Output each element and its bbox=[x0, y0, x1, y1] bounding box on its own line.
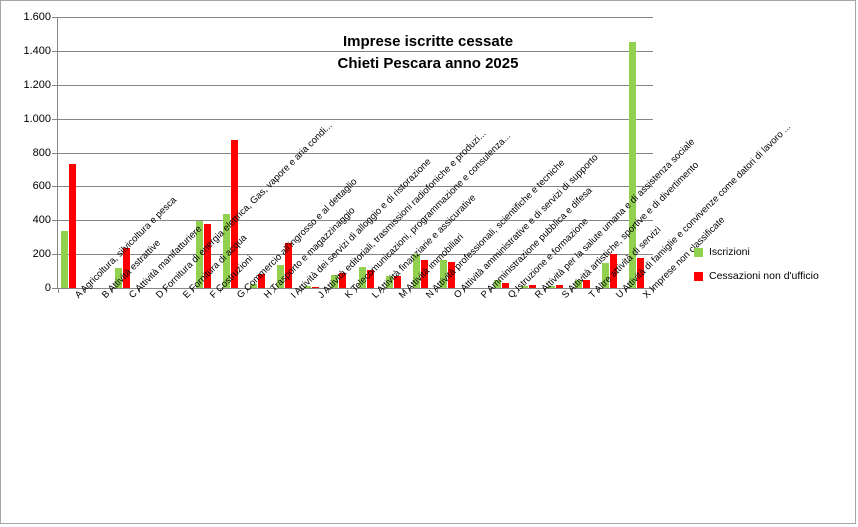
x-axis-tick-mark bbox=[139, 288, 140, 293]
x-axis-tick-mark bbox=[518, 288, 519, 293]
x-axis-tick-mark bbox=[545, 288, 546, 293]
y-axis-tick-label: 200 bbox=[5, 248, 51, 260]
x-axis-tick-mark bbox=[410, 288, 411, 293]
y-axis-tick-label: 400 bbox=[5, 214, 51, 226]
x-axis-tick-mark bbox=[220, 288, 221, 293]
x-axis-tick-mark bbox=[85, 288, 86, 293]
x-axis-tick-mark bbox=[356, 288, 357, 293]
legend-label: Cessazioni non d'ufficio bbox=[709, 270, 819, 282]
x-axis-tick-mark bbox=[274, 288, 275, 293]
chart-title-line2: Chieti Pescara anno 2025 bbox=[263, 53, 593, 75]
chart-title-line1: Imprese iscritte cessate bbox=[263, 31, 593, 53]
x-axis-tick-mark bbox=[166, 288, 167, 293]
x-axis-tick-mark bbox=[383, 288, 384, 293]
x-axis-tick-mark bbox=[572, 288, 573, 293]
x-axis-tick-mark bbox=[301, 288, 302, 293]
x-axis-tick-mark bbox=[112, 288, 113, 293]
legend-item[interactable]: Cessazioni non d'ufficio bbox=[694, 270, 854, 282]
y-axis-tick-label: 1.000 bbox=[5, 113, 51, 125]
y-axis-tick-label: 0 bbox=[5, 282, 51, 294]
x-axis-tick-mark bbox=[193, 288, 194, 293]
chart-legend: IscrizioniCessazioni non d'ufficio bbox=[694, 246, 854, 294]
y-axis-tick-label: 1.200 bbox=[5, 79, 51, 91]
y-axis-tick-label: 800 bbox=[5, 147, 51, 159]
x-axis-tick-mark bbox=[328, 288, 329, 293]
chart-title: Imprese iscritte cessate Chieti Pescara … bbox=[263, 31, 593, 75]
legend-item[interactable]: Iscrizioni bbox=[694, 246, 854, 258]
x-axis-tick-mark bbox=[626, 288, 627, 293]
x-axis-tick-mark bbox=[464, 288, 465, 293]
x-axis-tick-mark bbox=[58, 288, 59, 293]
y-axis-ticks: 1.6001.4001.2001.0008006004002000 bbox=[1, 1, 51, 305]
x-axis-tick-mark bbox=[599, 288, 600, 293]
chart-container: 1.6001.4001.2001.0008006004002000 A Agri… bbox=[0, 0, 856, 524]
y-axis-tick-label: 1.600 bbox=[5, 11, 51, 23]
legend-swatch bbox=[694, 272, 703, 281]
y-axis-tick-label: 1.400 bbox=[5, 45, 51, 57]
legend-swatch bbox=[694, 248, 703, 257]
x-axis-tick-mark bbox=[491, 288, 492, 293]
x-axis-tick-mark bbox=[247, 288, 248, 293]
x-axis-tick-mark bbox=[653, 288, 654, 293]
legend-label: Iscrizioni bbox=[709, 246, 750, 258]
x-axis-tick-mark bbox=[437, 288, 438, 293]
y-axis-tick-label: 600 bbox=[5, 180, 51, 192]
